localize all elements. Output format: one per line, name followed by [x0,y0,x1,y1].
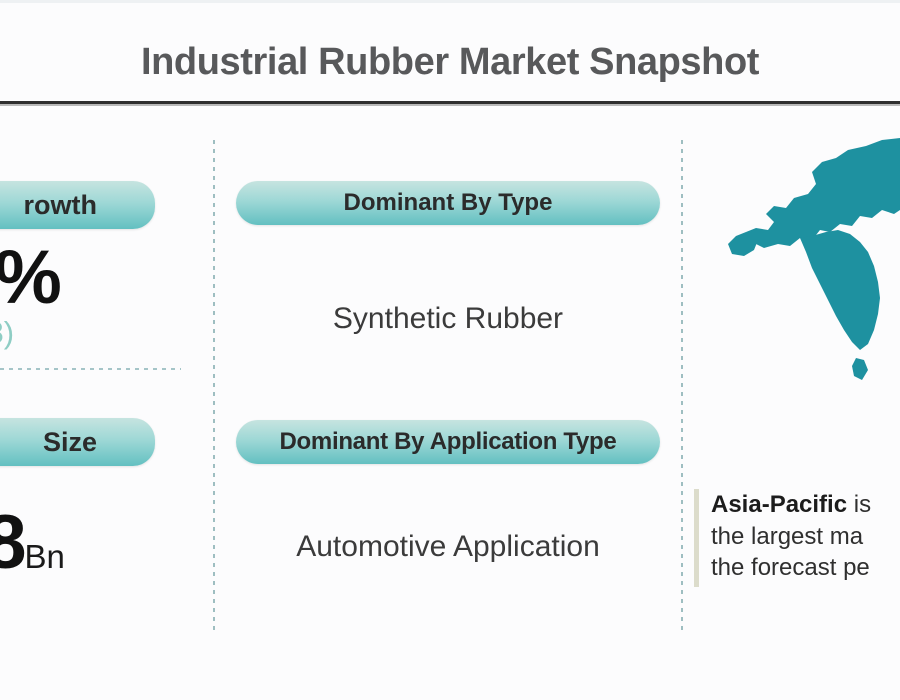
asia-pacific-callout: Asia-Pacific is the largest ma the forec… [694,489,900,587]
growth-pill: rowth [0,181,155,229]
growth-value: 2% [0,240,60,316]
market-size-number: 48 [0,500,25,585]
growth-year-range: 028) [0,317,14,348]
dominant-by-type-label: Dominant By Type [344,189,553,217]
dominant-by-type-value: Synthetic Rubber [236,302,660,336]
dominant-by-application-label: Dominant By Application Type [280,428,617,456]
market-size-unit: Bn [25,538,65,575]
left-column-row-divider [0,368,181,370]
asia-map-icon [716,132,900,442]
dominant-by-application-value: Automotive Application [236,530,660,564]
header: Industrial Rubber Market Snapshot [0,26,900,98]
market-size-value: 48Bn [0,505,65,581]
column-divider-left [213,140,215,630]
callout-line2: the largest ma [711,523,863,550]
growth-value-text: 2% [0,235,60,320]
callout-region-name: Asia-Pacific [711,491,847,518]
top-band [0,0,900,3]
callout-accent-bar [694,489,699,587]
infographic-canvas: Industrial Rubber Market Snapshot rowth … [0,0,900,700]
asia-pacific-map [716,132,900,442]
dominant-by-type-pill: Dominant By Type [236,181,660,225]
callout-line1-rest: is [847,491,871,518]
market-size-pill: Size [0,418,155,466]
growth-pill-label: rowth [24,190,98,221]
column-divider-right [681,140,683,630]
callout-text: Asia-Pacific is the largest ma the forec… [711,489,871,584]
page-title: Industrial Rubber Market Snapshot [141,41,759,84]
market-size-pill-label: Size [43,427,97,458]
callout-line3: the forecast pe [711,554,870,581]
dominant-by-application-pill: Dominant By Application Type [236,420,660,464]
header-divider-shadow [0,104,900,106]
